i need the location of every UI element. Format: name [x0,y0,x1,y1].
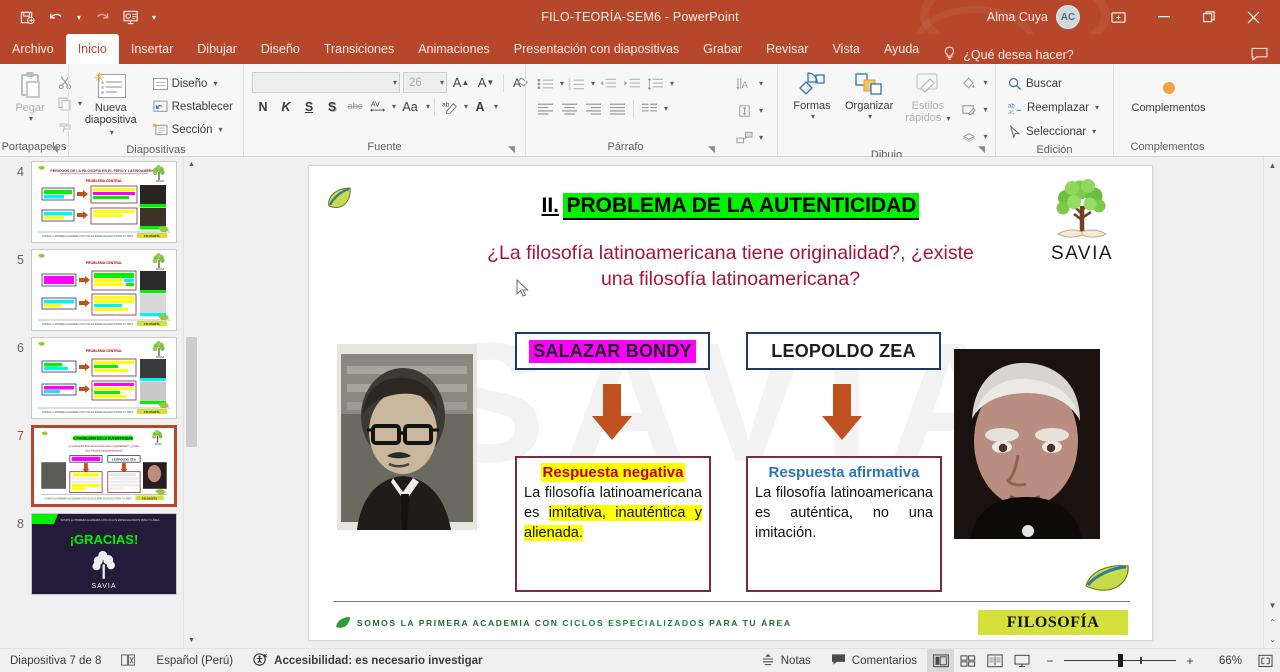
thumbnail-row-7[interactable]: 7 II. PROBLEMA DE LA AUTENTICIDAD ¿La fi… [0,419,198,507]
lightbulb-icon [943,46,956,64]
ribbon-group-portapapeles: Pegar ▾ ▾ [0,64,68,156]
shapes-icon [797,72,827,98]
bullets-icon[interactable] [534,73,557,94]
quick-styles-label-line2: rápidos [905,112,941,124]
slide-scroll-down-icon[interactable]: ▼ [1264,597,1280,614]
portapapeles-dialog-launcher[interactable]: ◥ [51,144,62,155]
accessibility-icon [253,652,268,670]
arrange-icon [854,72,884,98]
svg-text:FILOSOFÍA: FILOSOFÍA [144,411,159,414]
align-right-icon[interactable] [582,98,605,119]
group-label-complementos: Complementos [1114,139,1221,156]
thumbnail-slide-5[interactable]: PROBLEMA CENTRAL [31,249,177,331]
svg-text:PROBLEMA CENTRAL: PROBLEMA CENTRAL [86,349,122,353]
slide-scrollbar[interactable]: ▲ ▼ ⌃ ⌄ [1263,157,1280,648]
svg-text:A: A [742,79,749,90]
tab-diseno[interactable]: Diseño [249,34,312,64]
tab-ayuda[interactable]: Ayuda [872,34,931,64]
tab-transiciones[interactable]: Transiciones [312,34,406,64]
tab-presentacion[interactable]: Presentación con diapositivas [502,34,691,64]
thumbnail-row-4[interactable]: 4 PERIODOS DE LA FILOSOFÍA EN EL PERÚ Y … [0,157,198,243]
svg-text:SOMOS LA PRIMERA ACADEMIA CON: SOMOS LA PRIMERA ACADEMIA CON CICLOS ESP… [45,497,132,500]
text-direction-dropdown-icon[interactable]: ▾ [759,79,763,88]
font-row-1: ▾ 26 ▾ A▲ A▼ A [252,72,532,93]
normal-view-button[interactable] [927,649,954,672]
thumbnail-number-8: 8 [6,513,24,531]
text-highlight-dropdown-icon[interactable]: ▾ [464,102,468,111]
parrafo-dialog-launcher[interactable]: ◥ [708,144,719,155]
reset-icon [153,100,168,113]
bullets-dropdown-icon[interactable]: ▾ [560,79,564,88]
svg-text:FILOSOFÍA: FILOSOFÍA [144,323,159,326]
philosopher-name-left: SALAZAR BONDY [529,340,696,363]
slide-thumbnail-pane[interactable]: 4 PERIODOS DE LA FILOSOFÍA EN EL PERÚ Y … [0,157,198,648]
columns-dropdown-icon[interactable]: ▾ [664,104,668,113]
notes-button[interactable]: Notas [751,649,821,672]
numbering-icon[interactable]: 123 [565,73,588,94]
redo-icon[interactable] [89,5,115,29]
savia-logo-text: SAVIA [1034,243,1130,265]
footer-subject-badge: FILOSOFÍA [978,610,1128,635]
philosopher-box-salazar-bondy[interactable]: SALAZAR BONDY [515,332,710,370]
find-label: Buscar [1026,78,1062,90]
tab-archivo[interactable]: Archivo [0,34,66,64]
menubar-right [1251,47,1280,64]
smartart-dropdown-icon[interactable]: ▾ [759,133,763,142]
font-size-dropdown-icon[interactable]: ▾ [440,78,444,87]
section-dropdown-icon[interactable]: ▾ [219,125,223,134]
font-size-value: 26 [409,77,422,89]
svg-text:SAVIA: SAVIA [155,443,162,446]
minimize-button[interactable] [1141,0,1186,34]
arrange-button[interactable]: Organizar ▾ [840,69,898,124]
philosopher-box-leopoldo-zea[interactable]: LEOPOLDO ZEA [746,332,941,370]
svg-text:SOMOS LA PRIMERA ACADEMIA CON: SOMOS LA PRIMERA ACADEMIA CON CICLOS ESP… [42,411,134,414]
thumbnail-slide-7[interactable]: II. PROBLEMA DE LA AUTENTICIDAD ¿La filo… [31,425,177,507]
font-name-input[interactable]: ▾ [252,72,400,93]
quick-access-toolbar: ▾ ▾ [0,5,161,29]
next-slide-icon[interactable]: ⌄ [1264,631,1280,648]
text-shadow-button[interactable]: S [321,96,343,117]
previous-slide-icon[interactable]: ⌃ [1264,614,1280,631]
smartart-icon[interactable] [733,127,756,148]
new-slide-icon: ✳ [94,72,128,100]
answer-body-negative: La filosofía latinoamericana es imitativ… [524,483,702,543]
footer-subject-label: FILOSOFÍA [1007,614,1100,632]
zoom-slider-tick [1140,657,1142,664]
current-slide[interactable]: SAVIA [308,165,1153,641]
font-row-2: N K S S abc AV ▾ Aa ▾ ab ▾ A [252,96,498,117]
addins-button[interactable]: Complementos [1121,79,1217,117]
zoom-control[interactable]: − + 66% [1035,654,1250,668]
dibujo-dialog-launcher[interactable]: ◥ [978,144,989,155]
line-spacing-dropdown-icon[interactable]: ▾ [670,79,674,88]
quick-styles-dropdown-icon[interactable]: ▾ [946,114,950,123]
justify-icon[interactable] [606,98,629,119]
comments-button[interactable]: Comentarios [821,649,927,672]
svg-text:FILOSOFÍA: FILOSOFÍA [142,497,157,500]
slide-footer-divider [333,601,1130,603]
align-left-icon[interactable] [534,98,557,119]
thumbnail-scroll-up-icon[interactable]: ▲ [184,157,198,172]
thumbnail-row-6[interactable]: 6 PROBLEMA CENTRAL [0,331,198,419]
svg-text:ac: ac [1008,110,1014,115]
svg-text:SAVIA: SAVIA [156,267,165,271]
increase-indent-icon[interactable] [620,73,643,94]
tab-revisar[interactable]: Revisar [754,34,820,64]
tab-dibujar[interactable]: Dibujar [185,34,249,64]
select-icon [1008,125,1022,139]
svg-text:SAVIA: SAVIA [156,355,165,359]
new-slide-dropdown-icon[interactable]: ▾ [110,128,114,137]
slide-subtitle-line1: ¿La filosofía latinoamericana tiene orig… [419,240,1042,266]
save-icon[interactable] [14,5,40,29]
ribbon: Pegar ▾ ▾ [0,64,1280,157]
increase-font-size-icon[interactable]: A▲ [450,72,472,93]
accessibility-label: Accesibilidad: es necesario investigar [274,655,482,667]
svg-text:SAVIA: SAVIA [156,179,165,183]
ribbon-group-parrafo-extra: A ▾ ▾ ▾ [725,64,777,156]
answer-body-affirmative: La filosofía latinoamericana es auténtic… [755,483,933,543]
zoom-in-button[interactable]: + [1183,654,1197,668]
ribbon-group-diapositivas: ✳ Nueva diapositiva ▾ Diseño ▾ [68,64,243,156]
ribbon-group-parrafo: ▾ 123 ▾ ▾ [525,64,725,156]
character-spacing-button[interactable]: AV [367,96,389,117]
select-label: Seleccionar [1026,126,1086,138]
shapes-dropdown-icon[interactable]: ▾ [811,112,815,121]
svg-text:3: 3 [568,85,571,90]
accessibility-indicator[interactable]: Accesibilidad: es necesario investigar [243,649,492,672]
thumbnail-row-8[interactable]: 8 SOMOS LA PRIMERA ACADEMIA CON CICLOS E… [0,507,198,595]
title-bar: ▾ ▾ FILO-TEORÍA-SEM6 - PowerPoint Alma C… [0,0,1280,34]
replace-icon: abac [1008,101,1023,115]
svg-text:ab: ab [442,102,450,109]
line-spacing-icon[interactable] [644,73,667,94]
tab-vista[interactable]: Vista [820,34,872,64]
photo-leopoldo-zea [954,349,1100,539]
thumbnail-number-7: 7 [6,425,24,443]
character-spacing-dropdown-icon[interactable]: ▾ [392,102,396,111]
undo-dropdown-icon[interactable]: ▾ [72,5,86,29]
layout-dropdown-icon[interactable]: ▾ [213,79,217,88]
ribbon-group-fuente: ▾ 26 ▾ A▲ A▼ A N K S [243,64,525,156]
svg-text:PROBLEMA CENTRAL: PROBLEMA CENTRAL [86,261,122,265]
reset-label: Restablecer [172,101,233,113]
align-center-icon[interactable] [558,98,581,119]
quick-styles-icon [913,72,943,98]
svg-text:SAVIA: SAVIA [91,583,116,590]
addins-icon [1163,82,1175,94]
shapes-label: Formas [793,100,830,112]
select-dropdown-icon[interactable]: ▾ [1092,127,1096,136]
thumbnail-slide-6[interactable]: PROBLEMA CENTRAL [31,337,177,419]
layout-icon [153,78,168,90]
notes-icon [761,653,775,669]
zoom-percent-label[interactable]: 66% [1204,655,1242,667]
down-arrow-icon-right [819,384,865,442]
comment-bubble-icon [831,653,846,669]
font-color-button[interactable]: A [469,96,491,117]
quick-styles-button[interactable]: Estilos rápidos ▾ [900,69,955,128]
tab-inicio[interactable]: Inicio [66,34,119,64]
shape-fill-icon[interactable] [957,72,980,93]
answer-box-negative[interactable]: Respuesta negativa La filosofía latinoam… [515,456,711,592]
slide-title-number: II. [542,194,560,217]
font-name-dropdown-icon[interactable]: ▾ [393,78,397,87]
svg-text:SOMOS LA PRIMERA ACADEMIA CON: SOMOS LA PRIMERA ACADEMIA CON CICLOS ESP… [42,323,134,326]
restore-button[interactable] [1186,0,1231,34]
shape-fill-dropdown-icon[interactable]: ▾ [983,78,987,87]
shape-effects-dropdown-icon[interactable]: ▾ [983,132,987,141]
account-button[interactable]: Alma Cuya AC [987,5,1080,29]
status-bar-right: Notas Comentarios − [751,649,1280,672]
photo-salazar-bondy [337,344,477,530]
new-slide-label-line2: diapositiva [85,114,137,126]
section-icon [153,123,168,136]
thumbnail-scrollbar[interactable]: ▲ ▼ [183,157,198,648]
tab-animaciones[interactable]: Animaciones [406,34,502,64]
find-button[interactable]: Buscar [1004,73,1066,94]
notes-label: Notas [781,655,811,667]
savia-logo: SAVIA [1034,176,1130,262]
slide-subtitle-line2: una filosofía latinoamericana? [419,266,1042,292]
columns-icon[interactable] [638,98,661,119]
comments-icon[interactable] [1251,47,1268,64]
slideshow-view-button[interactable] [1008,649,1035,672]
tell-me-box[interactable]: ¿Qué desea hacer? [943,46,1074,64]
font-size-input[interactable]: 26 ▾ [403,72,447,93]
svg-text:PERIODOS DE LA FILOSOFÍA EN EL: PERIODOS DE LA FILOSOFÍA EN EL PERÚ Y LA… [50,168,158,173]
font-color-dropdown-icon[interactable]: ▾ [494,102,498,111]
thumbnail-row-5[interactable]: 5 PROBLEMA CENTRAL [0,243,198,331]
new-slide-button[interactable]: ✳ Nueva diapositiva ▾ [77,69,145,142]
comments-label: Comentarios [852,655,917,667]
slide-sorter-view-button[interactable] [954,649,981,672]
footer-text-bold: CICLOS ESPECIALIZADOS [562,618,705,628]
slide-stage: SAVIA [199,157,1262,648]
zoom-slider-thumb[interactable] [1118,654,1123,667]
powerpoint-window: ▾ ▾ FILO-TEORÍA-SEM6 - PowerPoint Alma C… [0,0,1280,672]
slide-scroll-up-icon[interactable]: ▲ [1264,157,1280,174]
slide-counter[interactable]: Diapositiva 7 de 8 [0,649,111,672]
slide-title-text: PROBLEMA DE LA AUTENTICIDAD [563,193,919,220]
account-name: Alma Cuya [987,10,1048,24]
ribbon-tabs: Archivo Inicio Insertar Dibujar Diseño T… [0,34,1280,64]
paste-dropdown-icon[interactable]: ▾ [29,114,33,123]
slide-notes-indicator-icon[interactable] [111,649,146,672]
close-button[interactable] [1231,0,1276,34]
ribbon-group-dibujo: Formas ▾ Organizar ▾ Estilos rá [777,64,995,156]
shape-outline-dropdown-icon[interactable]: ▾ [983,105,987,114]
text-direction-icon[interactable]: A [733,73,756,94]
svg-text:ab: ab [1008,103,1015,109]
ribbon-group-edicion: Buscar abac Reemplazar ▾ Seleccionar ▾ [995,64,1113,156]
status-bar: Diapositiva 7 de 8 Español (Perú) Accesi… [0,648,1280,672]
shape-effects-icon[interactable] [957,126,980,147]
workspace: 4 PERIODOS DE LA FILOSOFÍA EN EL PERÚ Y … [0,157,1280,648]
footer-leaf-icon [335,616,351,630]
section-button[interactable]: Sección ▾ [149,119,237,140]
align-text-icon[interactable] [733,100,756,121]
ribbon-display-options-icon[interactable] [1096,0,1141,34]
slide-footer-text: SOMOS LA PRIMERA ACADEMIA CON CICLOS ESP… [357,618,792,628]
thumbnail-scroll-down-icon[interactable]: ▼ [184,633,198,648]
ribbon-group-complementos: Complementos Complementos [1113,64,1221,156]
section-label: Sección [172,124,213,136]
tell-me-label: ¿Qué desea hacer? [963,48,1074,62]
layout-label: Diseño [172,78,208,90]
svg-text:AV: AV [371,100,380,109]
zoom-slider[interactable] [1064,660,1176,662]
svg-text:una filosofía latinoamericana?: una filosofía latinoamericana? [85,448,123,452]
answer-box-affirmative[interactable]: Respuesta afirmativa La filosofía latino… [746,456,942,592]
paste-icon [17,72,43,100]
text-highlight-button[interactable]: ab [439,96,461,117]
group-label-parrafo: Párrafo [526,139,725,156]
slide-subtitle: ¿La filosofía latinoamericana tiene orig… [419,240,1042,292]
paste-button[interactable]: Pegar ▾ [6,69,54,126]
paragraph-row-1: ▾ 123 ▾ ▾ [534,73,674,94]
answer-heading-negative: Respuesta negativa [541,463,686,482]
replace-label: Reemplazar [1027,102,1089,114]
change-case-button[interactable]: Aa [397,96,423,117]
tab-insertar[interactable]: Insertar [119,34,185,64]
quick-styles-label-line1: Estilos [912,100,944,112]
replace-button[interactable]: abac Reemplazar ▾ [1004,97,1103,118]
thumbnail-scroll-thumb[interactable] [186,337,197,447]
svg-text:SOMOS LA PRIMERA ACADEMIA CON: SOMOS LA PRIMERA ACADEMIA CON CICLOS ESP… [60,518,159,522]
underline-button[interactable]: S [298,96,320,117]
fuente-dialog-launcher[interactable]: ◥ [508,144,519,155]
decrease-font-size-icon[interactable]: A▼ [475,72,497,93]
title-bar-right: Alma Cuya AC [987,0,1280,34]
svg-text:FILOSOFÍA: FILOSOFÍA [144,235,159,238]
select-button[interactable]: Seleccionar ▾ [1004,121,1100,142]
customize-qat-icon[interactable]: ▾ [147,5,161,29]
arrange-label: Organizar [845,100,893,112]
footer-text-part2: PARA TU ÁREA [705,618,791,628]
thumbnail-number-5: 5 [6,249,24,267]
thumbnail-number-6: 6 [6,337,24,355]
paste-label: Pegar [15,102,44,114]
paragraph-row-2: ▾ [534,98,668,119]
numbering-dropdown-icon[interactable]: ▾ [591,79,595,88]
new-slide-label-line1: Nueva [95,102,127,114]
arrange-dropdown-icon[interactable]: ▾ [868,112,872,121]
answer-body-negative-highlight: imitativa, inauténtica y alienada. [524,505,702,541]
strikethrough-button[interactable]: abc [344,96,366,117]
reset-button[interactable]: Restablecer [149,96,237,117]
thumbnail-number-4: 4 [6,161,24,179]
bold-button[interactable]: N [252,96,274,117]
search-icon [1008,77,1022,91]
group-label-fuente: Fuente [244,139,525,156]
start-presentation-icon[interactable] [118,5,144,29]
thumbnail-slide-8[interactable]: SOMOS LA PRIMERA ACADEMIA CON CICLOS ESP… [31,513,177,595]
align-text-dropdown-icon[interactable]: ▾ [759,106,763,115]
addins-label: Complementos [1132,102,1206,114]
reading-view-button[interactable] [981,649,1008,672]
answer-heading-affirmative: Respuesta afirmativa [769,464,920,481]
footer-text-part1: SOMOS LA PRIMERA ACADEMIA CON [357,618,562,628]
undo-icon[interactable] [43,5,69,29]
philosopher-name-right: LEOPOLDO ZEA [771,341,915,362]
change-case-dropdown-icon[interactable]: ▾ [426,102,430,111]
leaf-icon-bottom-right [1084,564,1130,598]
shapes-button[interactable]: Formas ▾ [786,69,838,124]
down-arrow-icon-left [589,384,635,442]
language-indicator[interactable]: Español (Perú) [146,649,243,672]
avatar: AC [1056,5,1080,29]
mouse-cursor [516,279,530,298]
layout-button[interactable]: Diseño ▾ [149,73,237,94]
svg-text:LEOPOLDO ZEA: LEOPOLDO ZEA [112,457,137,461]
slide-title: II. PROBLEMA DE LA AUTENTICIDAD [309,194,1152,218]
svg-text:PROBLEMA CENTRAL: PROBLEMA CENTRAL [86,179,122,183]
zoom-out-button[interactable]: − [1043,654,1057,668]
fit-slide-to-window-button[interactable] [1250,649,1280,672]
thumbnail-slide-4[interactable]: PERIODOS DE LA FILOSOFÍA EN EL PERÚ Y LA… [31,161,177,243]
italic-button[interactable]: K [275,96,297,117]
decrease-indent-icon[interactable] [596,73,619,94]
shape-outline-icon[interactable] [957,99,980,120]
svg-text:II. PROBLEMA DE LA AUTENTICIDA: II. PROBLEMA DE LA AUTENTICIDAD [73,437,134,441]
svg-text:¡GRACIAS!: ¡GRACIAS! [70,532,139,547]
svg-text:SOMOS LA PRIMERA ACADEMIA CON: SOMOS LA PRIMERA ACADEMIA CON CICLOS ESP… [42,235,134,238]
replace-dropdown-icon[interactable]: ▾ [1095,103,1099,112]
tab-grabar[interactable]: Grabar [691,34,754,64]
